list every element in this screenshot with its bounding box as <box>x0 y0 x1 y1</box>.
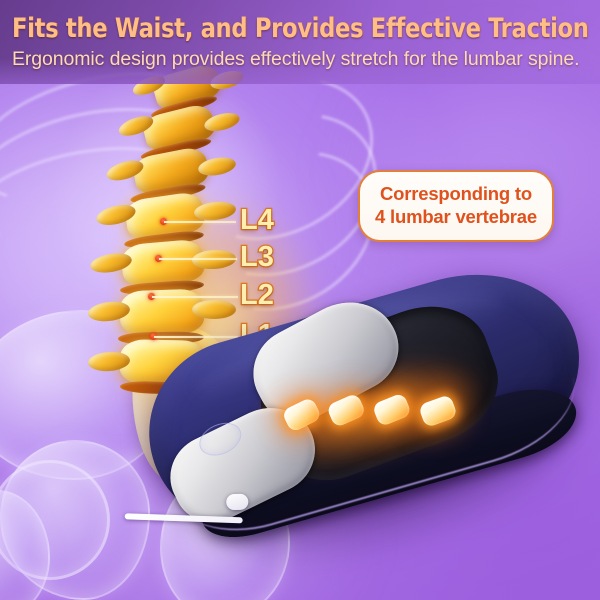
leader-line-l4 <box>164 221 236 223</box>
callout-box: Corresponding to 4 lumbar vertebrae <box>358 170 554 242</box>
page-title: Fits the Waist, and Provides Effective T… <box>12 13 589 44</box>
vertebra-label-l3: L3 <box>240 241 274 274</box>
page-subtitle: Ergonomic design provides effectively st… <box>12 48 579 71</box>
cable-connector <box>226 494 249 511</box>
callout-line-1: Corresponding to <box>380 184 532 205</box>
lumbar-massager-device <box>116 207 600 600</box>
callout-line-2: 4 lumbar vertebrae <box>375 207 537 228</box>
leader-line-l3 <box>159 258 237 260</box>
product-marketing-image: L4 L3 L2 L1 Corresponding to 4 lumbar ve… <box>0 0 600 600</box>
leader-line-l2 <box>152 296 238 298</box>
vertebra-label-l4: L4 <box>240 204 274 237</box>
